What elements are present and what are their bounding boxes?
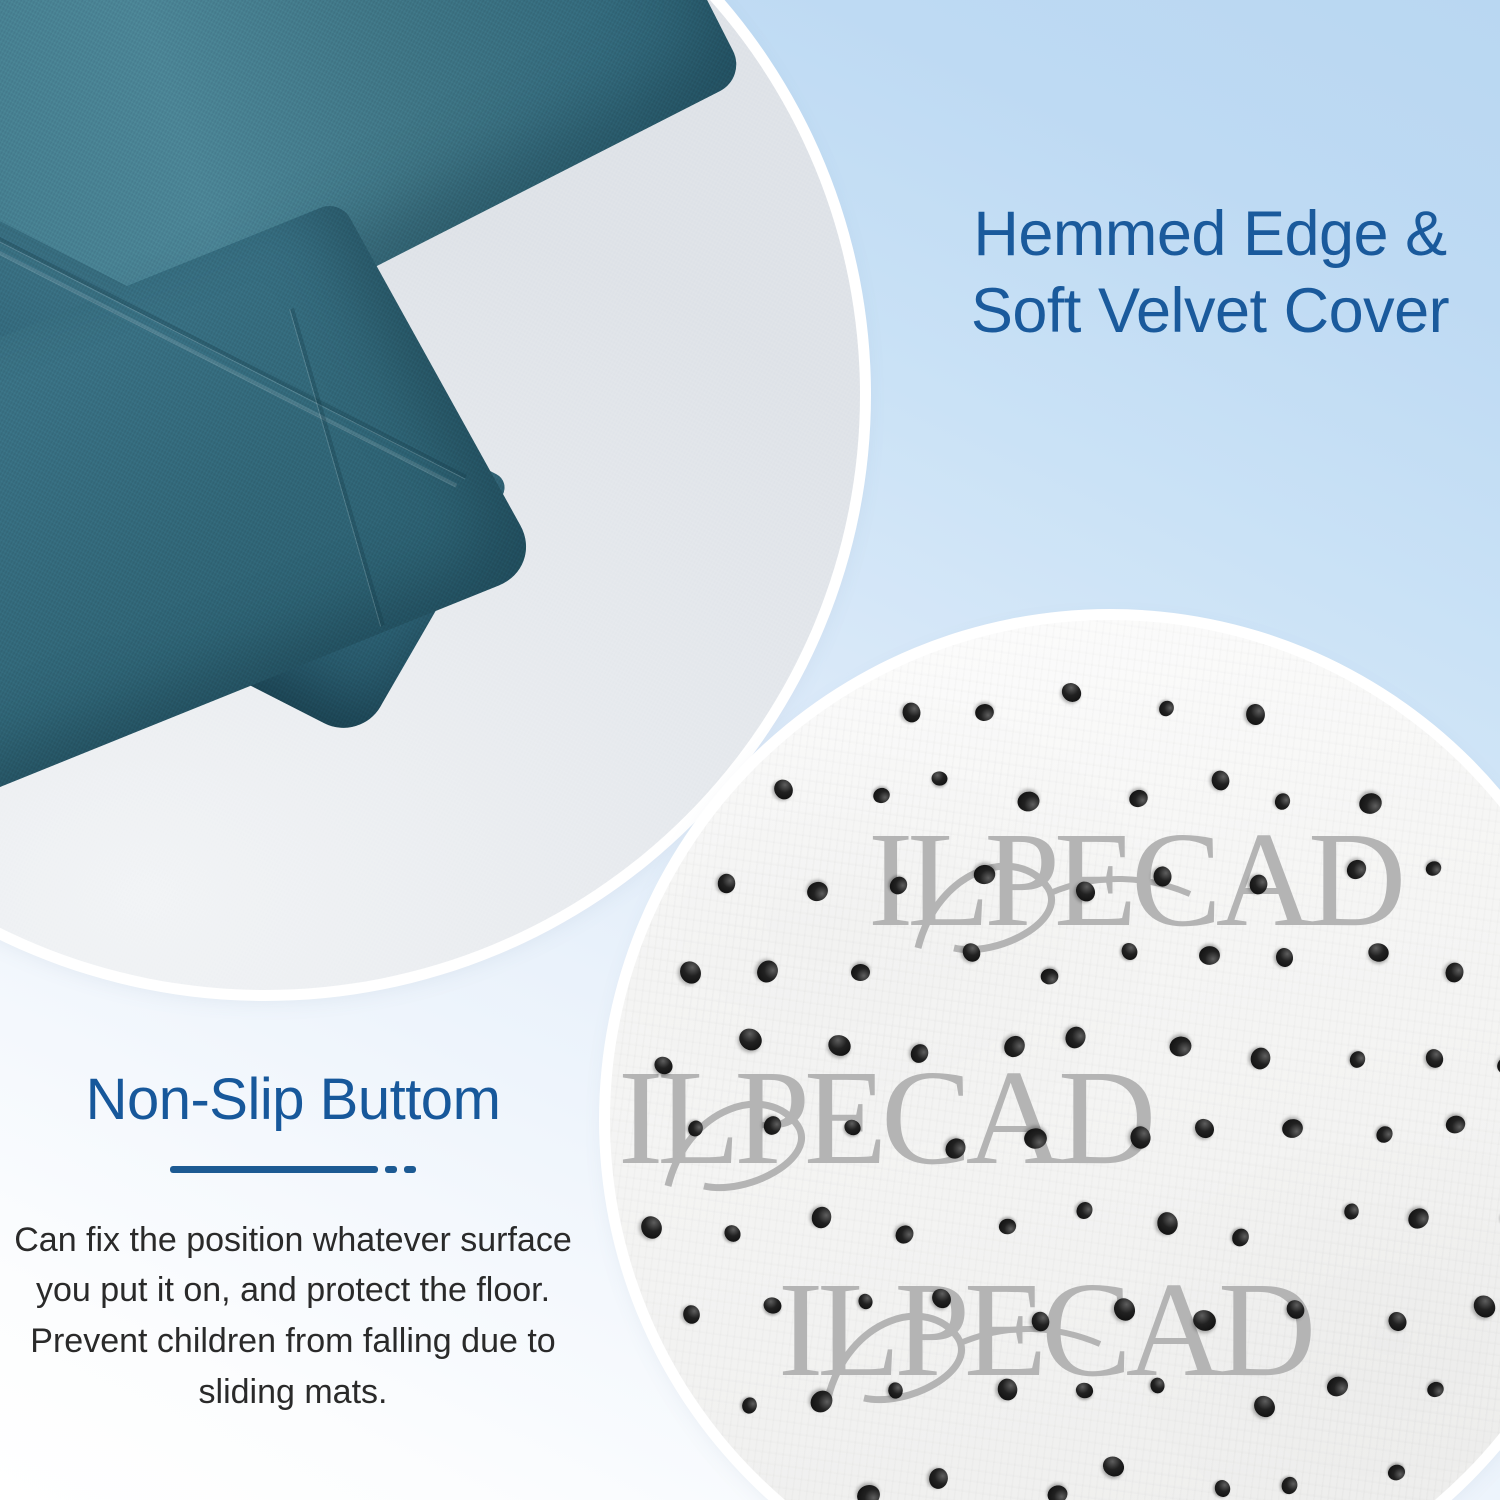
anti-slip-dot xyxy=(1126,787,1150,810)
anti-slip-dot xyxy=(1191,1115,1218,1142)
anti-slip-dot xyxy=(907,1041,931,1066)
anti-slip-dot xyxy=(973,864,996,885)
headline-hemmed-edge: Hemmed Edge & Soft Velvet Cover xyxy=(930,196,1490,351)
mat-brand-wordmark: ILPECAD xyxy=(868,802,1400,958)
anti-slip-dot xyxy=(854,1481,883,1500)
anti-slip-dot xyxy=(1072,878,1099,905)
divider-pip xyxy=(404,1166,416,1173)
anti-slip-dot xyxy=(717,874,735,894)
anti-slip-dot xyxy=(1342,856,1369,883)
heading-non-slip-buttom: Non-Slip Buttom xyxy=(8,1068,578,1132)
anti-slip-dot xyxy=(872,786,893,806)
anti-slip-dot xyxy=(1423,858,1444,878)
anti-slip-dot xyxy=(1470,1292,1500,1323)
body-line-1: Can fix the position whatever surface xyxy=(8,1215,578,1266)
logo-flourish-icon xyxy=(808,1278,1108,1428)
anti-slip-dot xyxy=(1212,1478,1231,1499)
body-line-2: you put it on, and protect the floor. xyxy=(8,1265,578,1316)
anti-slip-dot xyxy=(900,701,922,724)
anti-slip-dot xyxy=(1280,1117,1305,1140)
anti-slip-dot xyxy=(1190,1307,1218,1333)
anti-slip-dot xyxy=(1156,698,1177,719)
anti-slip-dot xyxy=(1099,1452,1127,1480)
headline-line-1: Hemmed Edge & xyxy=(930,196,1490,273)
anti-slip-dot xyxy=(1385,1462,1407,1483)
anti-slip-dot xyxy=(886,873,910,898)
anti-slip-dot xyxy=(1425,1380,1446,1400)
anti-slip-dot xyxy=(721,1222,744,1245)
anti-slip-dot xyxy=(1248,1045,1272,1071)
anti-slip-dot xyxy=(1367,942,1391,964)
anti-slip-dot xyxy=(1150,1377,1166,1395)
anti-slip-dot xyxy=(1045,1482,1070,1500)
anti-slip-dot xyxy=(891,1222,916,1247)
anti-slip-dot xyxy=(735,1024,766,1055)
divider-bar xyxy=(170,1166,378,1173)
divider-pip xyxy=(385,1166,397,1173)
anti-slip-dot xyxy=(686,1118,706,1139)
anti-slip-dot xyxy=(1348,1048,1368,1069)
anti-slip-dot xyxy=(1016,789,1042,813)
anti-slip-dot xyxy=(842,1116,864,1138)
anti-slip-dot xyxy=(1168,1034,1195,1059)
anti-slip-dot xyxy=(1030,1310,1052,1333)
anti-slip-dot xyxy=(809,1204,834,1230)
anti-slip-dot xyxy=(770,776,796,803)
mat-photo-surface: ILPECAD ILPECAD ILPECAD xyxy=(610,620,1500,1500)
anti-slip-dot xyxy=(1444,1113,1468,1135)
mat-fiber-texture xyxy=(610,620,1500,1500)
mat-brand-wordmark: ILPECAD xyxy=(778,1252,1310,1408)
anti-slip-dot xyxy=(825,1032,854,1060)
body-line-4: sliding mats. xyxy=(8,1367,578,1418)
anti-slip-dot xyxy=(804,878,831,903)
anti-slip-dot xyxy=(1229,1225,1252,1249)
anti-slip-dot xyxy=(1385,1309,1410,1335)
anti-slip-dot xyxy=(850,963,870,981)
anti-slip-dot xyxy=(1443,961,1465,985)
anti-slip-dot xyxy=(1040,968,1058,985)
anti-slip-dot xyxy=(959,940,984,965)
anti-slip-dot xyxy=(1249,1392,1279,1422)
anti-slip-dot xyxy=(998,1217,1018,1236)
anti-slip-dot xyxy=(1062,1023,1089,1051)
anti-slip-dot xyxy=(856,1292,874,1311)
anti-slip-dot xyxy=(1153,866,1172,887)
anti-slip-dot xyxy=(1274,947,1294,969)
logo-flourish-icon xyxy=(898,828,1198,978)
mat-brand-wordmark: ILPECAD xyxy=(618,1040,1150,1196)
anti-slip-dot xyxy=(682,1304,701,1325)
anti-slip-dot xyxy=(1000,1031,1029,1061)
anti-slip-dot xyxy=(1074,1381,1095,1400)
anti-slip-dot xyxy=(1373,1123,1396,1146)
headline-line-2: Soft Velvet Cover xyxy=(930,273,1490,350)
anti-slip-dot xyxy=(1058,680,1085,707)
feature-block-non-slip: Non-Slip Buttom Can fix the position wha… xyxy=(8,1068,578,1417)
anti-slip-dot xyxy=(928,1285,955,1312)
anti-slip-dot xyxy=(887,1382,903,1400)
anti-slip-dot xyxy=(1210,769,1231,792)
anti-slip-dot xyxy=(1024,1128,1048,1150)
product-feature-poster: ILPECAD ILPECAD ILPECAD Hemmed Edge & So… xyxy=(0,0,1500,1500)
anti-slip-dot xyxy=(676,958,705,988)
anti-slip-dot xyxy=(1119,940,1140,962)
anti-slip-dot xyxy=(1284,1296,1309,1321)
anti-slip-dot xyxy=(1111,1295,1140,1325)
anti-slip-dot xyxy=(741,1396,760,1416)
anti-slip-dot xyxy=(974,702,996,722)
anti-slip-dot xyxy=(1199,946,1221,966)
anti-slip-dot xyxy=(1343,1203,1360,1221)
anti-slip-dot xyxy=(1356,790,1384,817)
anti-slip-dot xyxy=(1129,1125,1152,1150)
anti-slip-dot xyxy=(1074,1199,1096,1222)
anti-slip-dot xyxy=(651,1053,676,1078)
anti-slip-dot xyxy=(1155,1211,1179,1237)
anti-slip-dot xyxy=(1404,1205,1433,1234)
anti-slip-dot xyxy=(761,1295,783,1316)
logo-flourish-icon xyxy=(648,1066,948,1216)
anti-slip-dot xyxy=(927,1466,949,1490)
body-non-slip-description: Can fix the position whatever surface yo… xyxy=(8,1215,578,1418)
anti-slip-dot xyxy=(806,1386,837,1417)
anti-slip-dot xyxy=(1280,1475,1300,1497)
anti-slip-dot xyxy=(1273,791,1293,812)
anti-slip-dot xyxy=(1423,1046,1446,1070)
body-line-3: Prevent children from falling due to xyxy=(8,1316,578,1367)
anti-slip-dot xyxy=(996,1377,1018,1401)
non-slip-mat-photo-circle: ILPECAD ILPECAD ILPECAD xyxy=(610,620,1500,1500)
anti-slip-dot xyxy=(1245,703,1265,725)
anti-slip-dot xyxy=(942,1134,970,1163)
anti-slip-dot xyxy=(930,770,948,787)
section-divider xyxy=(8,1166,578,1173)
anti-slip-dot xyxy=(761,1113,785,1138)
anti-slip-dot-grid xyxy=(610,620,1500,1500)
anti-slip-dot xyxy=(638,1213,665,1242)
anti-slip-dot xyxy=(1495,1054,1500,1077)
anti-slip-dot xyxy=(1324,1373,1352,1400)
anti-slip-dot xyxy=(1248,874,1269,897)
anti-slip-dot xyxy=(753,957,782,987)
